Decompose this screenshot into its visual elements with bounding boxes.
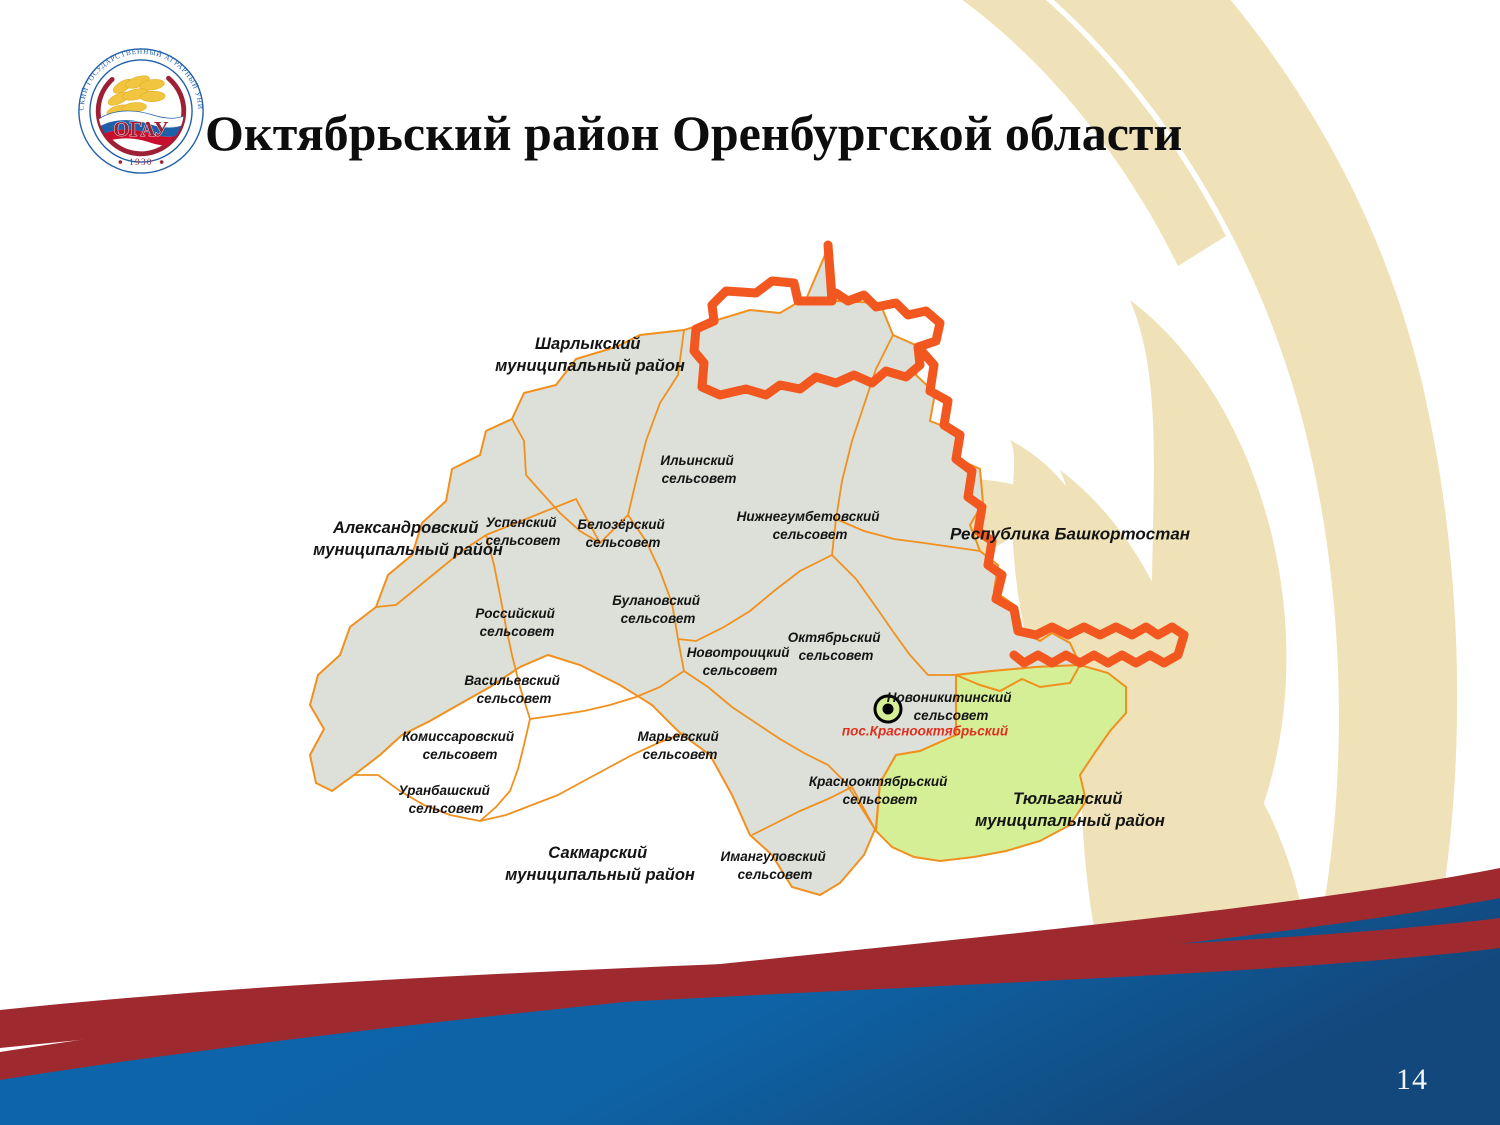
label-bashkortostan: Республика Башкортостан	[950, 524, 1190, 543]
blue-field	[0, 893, 1500, 1125]
label-sakmarsky: Сакмарский муниципальный район	[505, 844, 695, 884]
slide-root: ОРЕНБУРГСКИЙ ГОСУДАРСТВЕННЫЙ АГРАРНЫЙ УН…	[0, 0, 1500, 1125]
oktyabrsky-district-map: Ильинский сельсовет Успенский сельсовет …	[280, 235, 1200, 915]
logo-year: 1930	[129, 157, 152, 167]
ogau-logo: ОРЕНБУРГСКИЙ ГОСУДАРСТВЕННЫЙ АГРАРНЫЙ УН…	[72, 42, 210, 180]
maroon-band-upper	[0, 918, 1500, 1048]
slide-title: Октябрьский район Оренбургской области	[205, 107, 1385, 160]
label-komissarovsky: Комиссаровский сельсовет	[402, 729, 518, 762]
logo-acronym: ОГАУ	[113, 119, 168, 141]
page-number: 14	[1396, 1063, 1428, 1097]
map-container: Ильинский сельсовет Успенский сельсовет …	[280, 235, 1200, 915]
label-pos-krasnooktyabrsky: пос.Краснооктябрьский	[842, 724, 1009, 739]
